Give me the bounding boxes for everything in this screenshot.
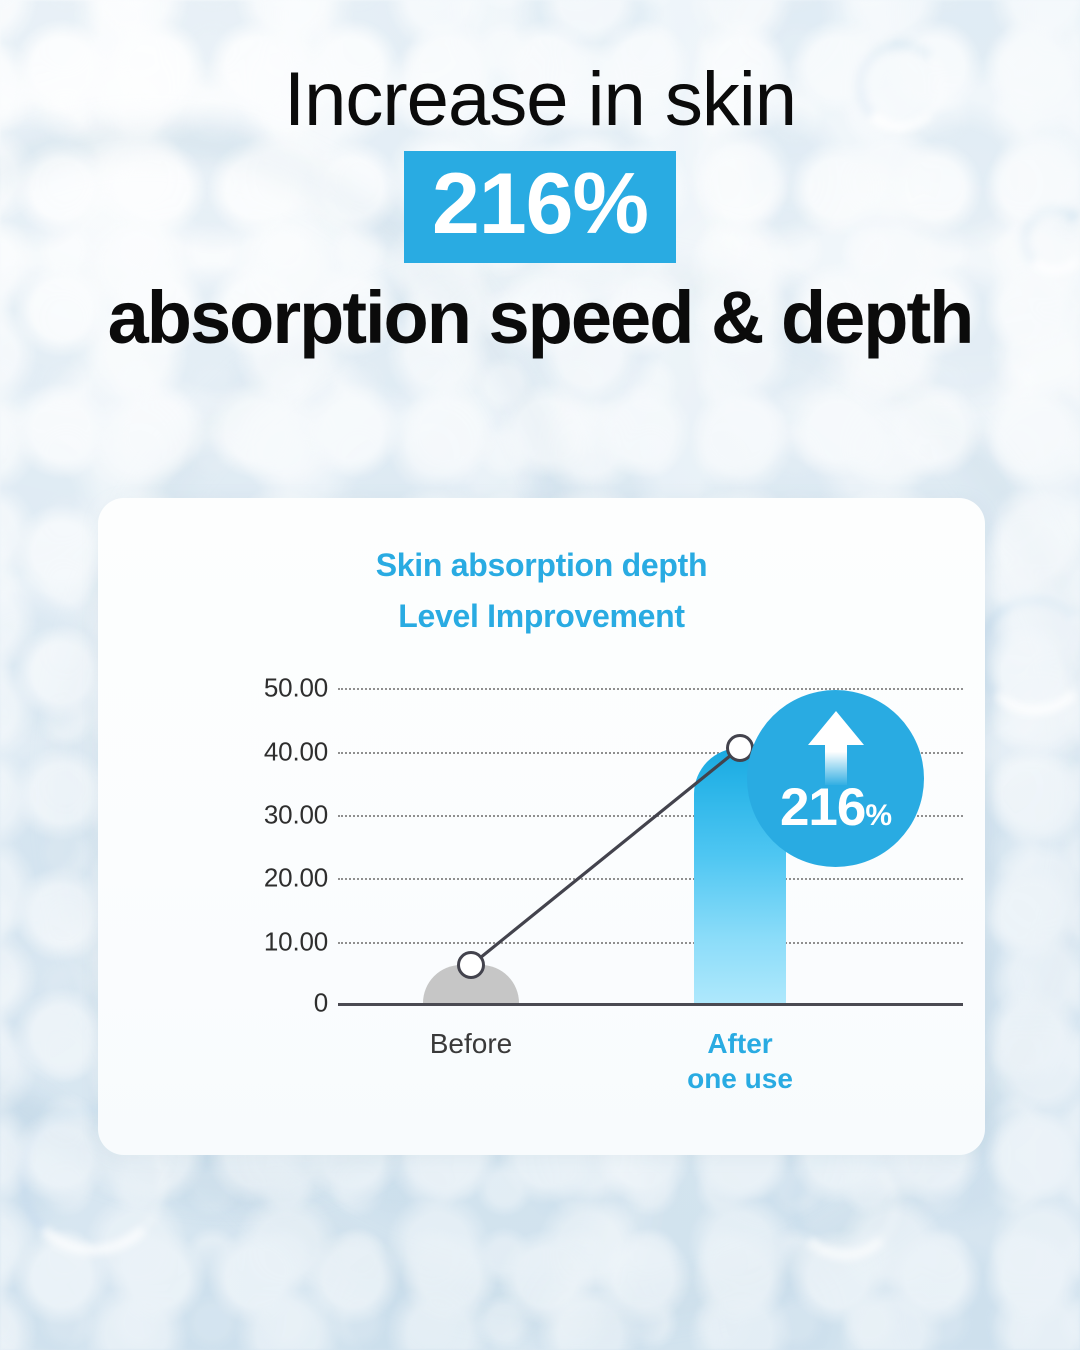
up-arrow-icon (806, 711, 866, 785)
data-point-marker-before (457, 951, 485, 979)
chart-title: Skin absorption depth Level Improvement (98, 540, 985, 642)
x-axis-label-after: After one use (610, 1026, 870, 1096)
infographic-page: Increase in skin 216% absorption speed &… (0, 0, 1080, 1350)
chart-title-line-1: Skin absorption depth (98, 540, 985, 591)
water-bubble-icon (975, 595, 1080, 715)
headline: Increase in skin 216% absorption speed &… (0, 62, 1080, 355)
water-bubble-icon (790, 1150, 900, 1260)
increase-badge-symbol: % (865, 799, 891, 832)
x-axis-label-after-line-2: one use (610, 1061, 870, 1096)
headline-percent-highlight: 216% (404, 151, 676, 263)
increase-badge: 216% (747, 690, 924, 867)
increase-badge-value: 216% (747, 781, 924, 834)
headline-line-1: Increase in skin (0, 62, 1080, 151)
headline-line-3: absorption speed & depth (0, 259, 1080, 355)
x-axis-label-before: Before (341, 1026, 601, 1061)
x-axis-label-after-line-1: After (610, 1026, 870, 1061)
chart-title-line-2: Level Improvement (98, 591, 985, 642)
headline-percent-row: 216% (0, 151, 1080, 259)
increase-badge-number: 216 (780, 778, 865, 837)
